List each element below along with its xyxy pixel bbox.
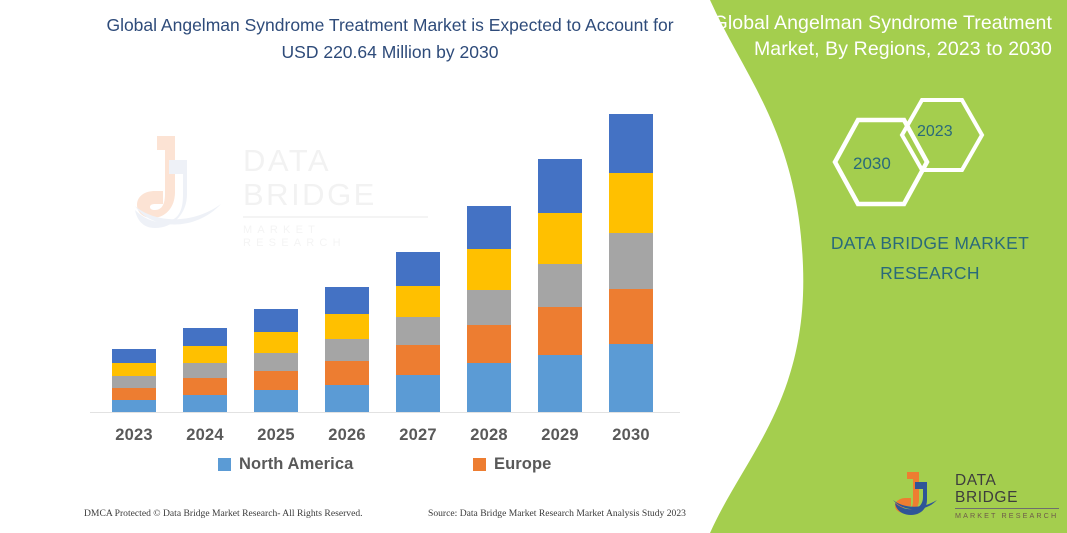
bar-2025 xyxy=(254,309,298,413)
bar-segment-2025-series-5 xyxy=(254,309,298,332)
data-bridge-logo: DATA BRIDGE MARKET RESEARCH xyxy=(893,470,1063,516)
stacked-bar-plot xyxy=(90,100,680,413)
x-axis-label-2028: 2028 xyxy=(454,426,524,445)
bar-segment-2027-series-5 xyxy=(396,252,440,285)
bar-2027 xyxy=(396,252,440,413)
bar-2030 xyxy=(609,114,653,413)
bar-segment-2028-series-3 xyxy=(467,290,511,325)
bar-segment-2029-series-5 xyxy=(538,159,582,213)
bar-segment-2030-series-5 xyxy=(609,114,653,173)
x-axis-label-2024: 2024 xyxy=(170,426,240,445)
bar-segment-2026-europe xyxy=(325,361,369,385)
x-axis-label-2023: 2023 xyxy=(99,426,169,445)
chart-legend: North AmericaEurope xyxy=(90,455,680,481)
bar-segment-2023-europe xyxy=(112,388,156,400)
bar-segment-2026-series-4 xyxy=(325,314,369,339)
hexagon-2030-label: 2030 xyxy=(853,154,891,174)
legend-item-north-america[interactable]: North America xyxy=(218,455,353,474)
bar-segment-2026-north-america xyxy=(325,385,369,413)
bar-segment-2025-series-4 xyxy=(254,332,298,353)
chart-title: Global Angelman Syndrome Treatment Marke… xyxy=(90,12,690,66)
bar-segment-2029-series-3 xyxy=(538,264,582,307)
bar-segment-2023-series-4 xyxy=(112,363,156,376)
bar-segment-2023-series-5 xyxy=(112,349,156,363)
bar-segment-2025-series-3 xyxy=(254,353,298,371)
bar-segment-2025-europe xyxy=(254,371,298,390)
legend-swatch-icon xyxy=(473,458,486,471)
logo-mark-icon xyxy=(893,470,951,516)
bar-2026 xyxy=(325,287,369,413)
hexagon-shapes xyxy=(820,95,1020,210)
bar-2024 xyxy=(183,328,227,413)
bar-segment-2028-europe xyxy=(467,325,511,364)
bar-segment-2027-series-4 xyxy=(396,286,440,317)
bar-segment-2030-series-4 xyxy=(609,173,653,232)
legend-item-europe[interactable]: Europe xyxy=(473,455,551,474)
x-axis-label-2027: 2027 xyxy=(383,426,453,445)
footer-source: Source: Data Bridge Market Research Mark… xyxy=(428,508,686,519)
bar-2023 xyxy=(112,349,156,413)
logo-text-block: DATA BRIDGE MARKET RESEARCH xyxy=(955,472,1063,521)
logo-divider xyxy=(955,508,1059,509)
bar-segment-2027-north-america xyxy=(396,375,440,413)
bar-segment-2028-north-america xyxy=(467,363,511,413)
bar-segment-2025-north-america xyxy=(254,390,298,413)
panel-brand-text: DATA BRIDGE MARKET RESEARCH xyxy=(820,228,1040,288)
logo-main-text: DATA BRIDGE xyxy=(955,472,1063,506)
hexagon-badges: 2030 2023 xyxy=(820,95,1020,210)
legend-swatch-icon xyxy=(218,458,231,471)
x-axis-label-2030: 2030 xyxy=(596,426,666,445)
bar-segment-2027-europe xyxy=(396,345,440,375)
bar-segment-2030-north-america xyxy=(609,344,653,413)
logo-sub-text: MARKET RESEARCH xyxy=(955,511,1063,521)
x-axis-label-2026: 2026 xyxy=(312,426,382,445)
bar-segment-2024-europe xyxy=(183,378,227,394)
bar-segment-2024-north-america xyxy=(183,395,227,413)
bar-segment-2026-series-5 xyxy=(325,287,369,314)
bar-segment-2024-series-5 xyxy=(183,328,227,346)
legend-label: Europe xyxy=(494,455,551,474)
bar-segment-2028-series-5 xyxy=(467,206,511,249)
x-axis-label-2025: 2025 xyxy=(241,426,311,445)
panel-title: Global Angelman Syndrome Treatment Marke… xyxy=(700,10,1052,62)
bar-segment-2026-series-3 xyxy=(325,339,369,362)
bar-segment-2023-series-3 xyxy=(112,376,156,388)
bar-segment-2030-series-3 xyxy=(609,233,653,289)
panel-brand-line2: RESEARCH xyxy=(820,258,1040,288)
infographic-canvas: Global Angelman Syndrome Treatment Marke… xyxy=(0,0,1067,533)
bar-segment-2030-europe xyxy=(609,289,653,344)
hexagon-2023-label: 2023 xyxy=(917,123,953,141)
bar-segment-2029-series-4 xyxy=(538,213,582,264)
x-axis-label-2029: 2029 xyxy=(525,426,595,445)
bar-segment-2027-series-3 xyxy=(396,317,440,345)
panel-brand-line1: DATA BRIDGE MARKET xyxy=(820,228,1040,258)
bar-segment-2024-series-3 xyxy=(183,363,227,378)
bar-segment-2028-series-4 xyxy=(467,249,511,290)
bar-2029 xyxy=(538,159,582,413)
x-axis-line xyxy=(90,412,680,413)
bar-2028 xyxy=(467,206,511,413)
footer-copyright: DMCA Protected © Data Bridge Market Rese… xyxy=(84,508,363,519)
bar-segment-2029-europe xyxy=(538,307,582,354)
x-axis-labels: 20232024202520262027202820292030 xyxy=(90,426,680,452)
legend-label: North America xyxy=(239,455,353,474)
bar-segment-2029-north-america xyxy=(538,355,582,413)
bar-segment-2024-series-4 xyxy=(183,346,227,363)
footer: DMCA Protected © Data Bridge Market Rese… xyxy=(0,508,690,530)
